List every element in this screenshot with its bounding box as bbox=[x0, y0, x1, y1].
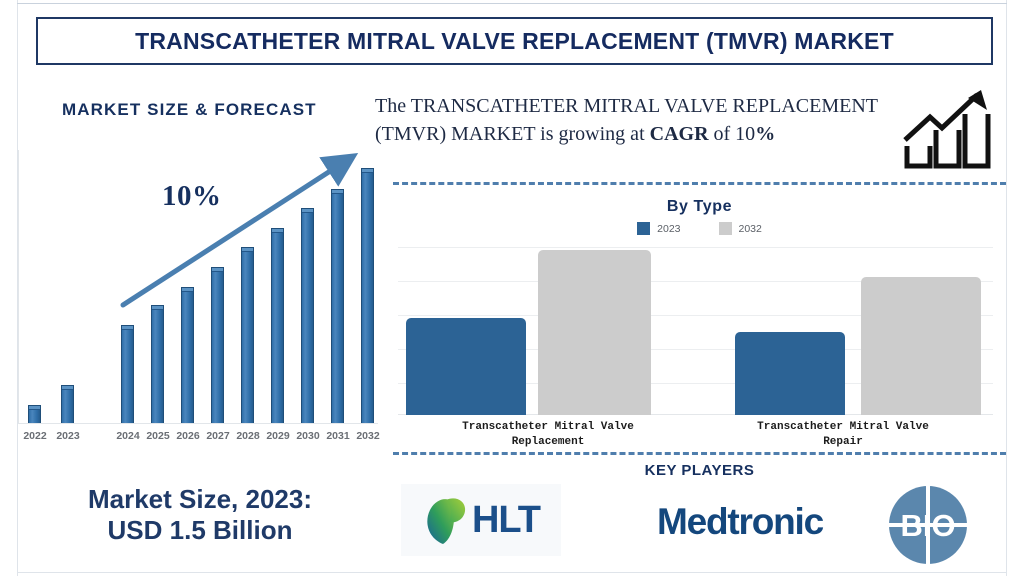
type-category-label-line2: Repair bbox=[693, 435, 993, 450]
svg-text:BIO: BIO bbox=[900, 508, 955, 543]
market-size-forecast-heading: MARKET SIZE & FORECAST bbox=[62, 100, 317, 120]
forecast-bar-2023 bbox=[61, 385, 74, 423]
forecast-bar-2031 bbox=[331, 189, 344, 423]
forecast-year-label-2023: 2023 bbox=[51, 430, 85, 442]
forecast-year-label-2032: 2032 bbox=[351, 430, 385, 442]
page-title: TRANSCATHETER MITRAL VALVE REPLACEMENT (… bbox=[135, 28, 894, 55]
logo-bio: BIO bbox=[883, 484, 973, 566]
type-category-label-line1: Transcatheter Mitral Valve bbox=[693, 420, 993, 435]
legend-swatch-2023 bbox=[637, 222, 650, 235]
forecast-year-label-2029: 2029 bbox=[261, 430, 295, 442]
forecast-bar-2027 bbox=[211, 267, 224, 423]
forecast-bar-2029 bbox=[271, 228, 284, 423]
type-bar-2023-2 bbox=[735, 332, 845, 415]
blurb-part-1: The TRANSCATHETER MITRAL VALVE REPLACEME… bbox=[375, 95, 878, 145]
type-bar-2023-0 bbox=[406, 318, 526, 415]
type-bar-2032-3 bbox=[861, 277, 981, 415]
forecast-year-label-2030: 2030 bbox=[291, 430, 325, 442]
medtronic-wordmark: Medtronic bbox=[657, 501, 823, 543]
by-type-category-labels: Transcatheter Mitral ValveReplacementTra… bbox=[398, 420, 993, 456]
type-category-label-line2: Replacement bbox=[398, 435, 698, 450]
type-category-label-1: Transcatheter Mitral ValveRepair bbox=[693, 420, 993, 450]
hlt-leaf-icon bbox=[422, 494, 468, 546]
logo-hlt: HLT bbox=[401, 484, 561, 556]
top-rule bbox=[17, 3, 1007, 4]
key-players-title: KEY PLAYERS bbox=[393, 462, 1006, 479]
blurb-percent-bold: % bbox=[755, 123, 775, 145]
divider-dashed-bottom bbox=[393, 452, 1006, 455]
forecast-bar-2024 bbox=[121, 325, 134, 423]
gridline bbox=[398, 247, 993, 248]
forecast-bar-2028 bbox=[241, 247, 254, 423]
bottom-rule bbox=[17, 572, 1007, 573]
blurb-part-2: of 10 bbox=[709, 123, 756, 145]
by-type-chart bbox=[398, 243, 993, 415]
forecast-year-label-2027: 2027 bbox=[201, 430, 235, 442]
forecast-year-label-2028: 2028 bbox=[231, 430, 265, 442]
key-players-logos: HLT Medtronic BIO bbox=[393, 482, 1006, 568]
forecast-year-label-2024: 2024 bbox=[111, 430, 145, 442]
legend-item-2032[interactable]: 2032 bbox=[719, 222, 762, 235]
by-type-legend: 20232032 bbox=[393, 222, 1006, 235]
forecast-year-label-2026: 2026 bbox=[171, 430, 205, 442]
forecast-bar-2025 bbox=[151, 305, 164, 423]
blurb-cagr-bold: CAGR bbox=[650, 123, 709, 145]
forecast-bar-2022 bbox=[28, 405, 41, 423]
title-banner: TRANSCATHETER MITRAL VALVE REPLACEMENT (… bbox=[36, 17, 993, 65]
type-bar-2032-1 bbox=[538, 250, 651, 415]
bio-circle-icon: BIO bbox=[883, 484, 973, 566]
forecast-year-label-2022: 2022 bbox=[18, 430, 52, 442]
legend-label-2032: 2032 bbox=[739, 223, 762, 235]
market-growth-blurb: The TRANSCATHETER MITRAL VALVE REPLACEME… bbox=[375, 92, 895, 149]
forecast-y-axis bbox=[18, 150, 19, 424]
market-size-statement: Market Size, 2023: USD 1.5 Billion bbox=[22, 484, 378, 545]
divider-dashed-top bbox=[393, 182, 1006, 185]
legend-swatch-2032 bbox=[719, 222, 732, 235]
market-size-line-1: Market Size, 2023: bbox=[22, 484, 378, 515]
type-category-label-0: Transcatheter Mitral ValveReplacement bbox=[398, 420, 698, 450]
right-rule bbox=[1006, 0, 1007, 576]
market-size-forecast-chart bbox=[18, 150, 378, 426]
forecast-year-label-2031: 2031 bbox=[321, 430, 355, 442]
logo-medtronic: Medtronic bbox=[625, 494, 855, 550]
forecast-bar-2030 bbox=[301, 208, 314, 423]
hlt-wordmark: HLT bbox=[472, 499, 540, 542]
legend-item-2023[interactable]: 2023 bbox=[637, 222, 680, 235]
type-category-label-line1: Transcatheter Mitral Valve bbox=[398, 420, 698, 435]
forecast-bar-2032 bbox=[361, 168, 374, 423]
forecast-bar-2026 bbox=[181, 287, 194, 423]
market-size-line-2: USD 1.5 Billion bbox=[22, 515, 378, 546]
infographic-page: TRANSCATHETER MITRAL VALVE REPLACEMENT (… bbox=[0, 0, 1024, 576]
by-type-title: By Type bbox=[393, 198, 1006, 216]
forecast-year-label-2025: 2025 bbox=[141, 430, 175, 442]
forecast-x-axis bbox=[18, 423, 378, 424]
legend-label-2023: 2023 bbox=[657, 223, 680, 235]
forecast-year-labels: 2022202320242025202620272028202920302031… bbox=[18, 430, 378, 446]
growth-bar-chart-arrow-icon bbox=[897, 84, 995, 172]
